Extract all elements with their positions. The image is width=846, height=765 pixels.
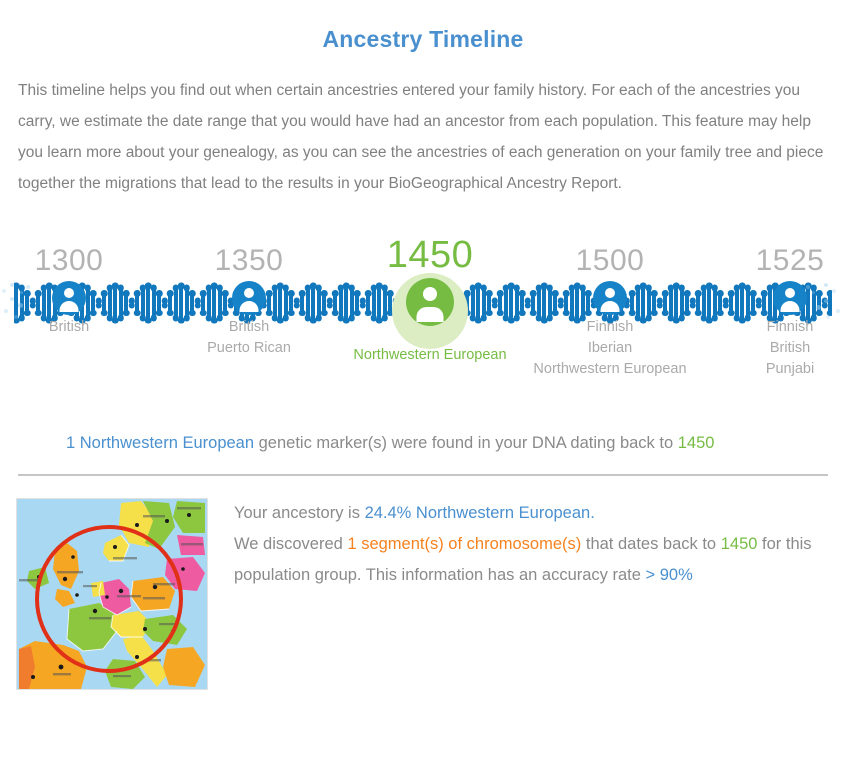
summary-year: 1450 xyxy=(678,434,715,452)
summary-middle-text: genetic marker(s) were found in your DNA… xyxy=(259,434,674,452)
detail-segments: 1 segment(s) of chromosome(s) xyxy=(347,535,581,553)
person-icon xyxy=(593,281,627,315)
marker-population-label: Punjabi xyxy=(680,359,846,380)
person-icon xyxy=(406,278,454,326)
marker-highlight-halo xyxy=(392,273,468,349)
person-body xyxy=(601,301,620,312)
timeline-marker-1525[interactable]: 1525FinnishBritishPunjabi xyxy=(680,245,846,380)
person-icon xyxy=(773,281,807,315)
europe-map-image xyxy=(16,498,208,690)
detail-line3-prefix: population group. This information has a… xyxy=(234,566,641,584)
detail-text: Your ancestory is 24.4% Northwestern Eur… xyxy=(234,498,812,591)
map-graphic xyxy=(17,499,207,689)
summary-line: 1 Northwestern European genetic marker(s… xyxy=(0,430,846,456)
detail-line-3: population group. This information has a… xyxy=(234,560,812,591)
timeline-marker-1450[interactable]: 1450Northwestern European xyxy=(320,235,540,366)
person-head xyxy=(64,288,74,298)
population-detail-section: Your ancestory is 24.4% Northwestern Eur… xyxy=(16,498,846,690)
person-body xyxy=(240,301,259,312)
detail-line2-middle: that dates back to xyxy=(586,535,716,553)
person-head xyxy=(244,288,254,298)
person-body xyxy=(60,301,79,312)
intro-paragraph: This timeline helps you find out when ce… xyxy=(18,75,828,199)
ancestry-timeline: 1300British1350BritishPuerto Rican1450No… xyxy=(0,241,846,416)
detail-percent-population: 24.4% Northwestern European. xyxy=(365,504,595,522)
detail-year: 1450 xyxy=(721,535,758,553)
detail-accuracy: > 90% xyxy=(646,566,693,584)
person-body xyxy=(781,301,800,312)
marker-population-label: British xyxy=(680,338,846,359)
detail-line2-prefix: We discovered xyxy=(234,535,343,553)
person-icon xyxy=(232,281,266,315)
marker-year: 1525 xyxy=(680,245,846,277)
detail-line-1: Your ancestory is 24.4% Northwestern Eur… xyxy=(234,498,812,529)
person-icon xyxy=(52,281,86,315)
page-title: Ancestry Timeline xyxy=(0,26,846,53)
summary-population: 1 Northwestern European xyxy=(66,434,254,452)
person-head xyxy=(605,288,615,298)
marker-year: 1450 xyxy=(320,235,540,275)
detail-line-2: We discovered 1 segment(s) of chromosome… xyxy=(234,529,812,560)
person-body xyxy=(417,307,444,322)
marker-population-labels: FinnishBritishPunjabi xyxy=(680,317,846,380)
section-divider xyxy=(18,474,828,476)
person-head xyxy=(423,287,437,301)
person-head xyxy=(785,288,795,298)
detail-line1-prefix: Your ancestory is xyxy=(234,504,360,522)
detail-line2-suffix: for this xyxy=(762,535,812,553)
marker-population-label: Finnish xyxy=(680,317,846,338)
